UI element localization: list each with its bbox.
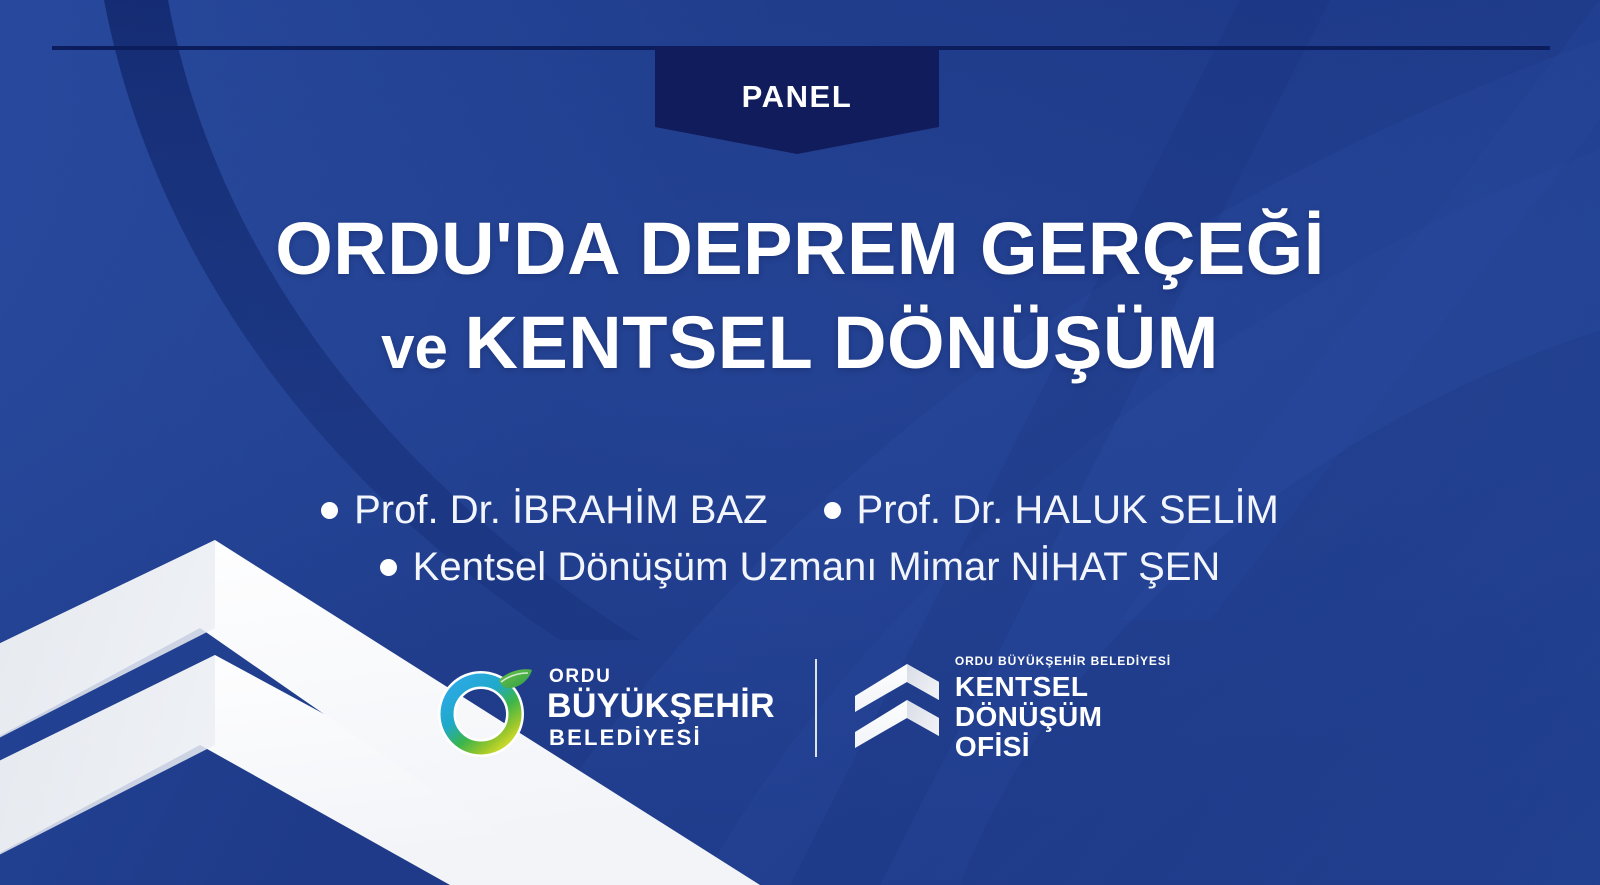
speaker-item: Prof. Dr. İBRAHİM BAZ [321,488,767,533]
title-line-2: ve KENTSEL DÖNÜŞÜM [0,306,1600,380]
logo-bar: ORDU BÜYÜKŞEHİR BELEDİYESİ [0,655,1600,761]
kdo-logo-line-2: DÖNÜŞÜM [955,703,1102,731]
speaker-name: Prof. Dr. İBRAHİM BAZ [354,488,767,533]
title-block: ORDU'DA DEPREM GERÇEĞİ ve KENTSEL DÖNÜŞÜ… [0,212,1600,380]
title-line-1: ORDU'DA DEPREM GERÇEĞİ [0,212,1600,286]
bullet-icon [321,502,338,519]
kdo-logo-line-3: OFİSİ [955,733,1030,761]
double-chevron-icon [851,658,943,758]
speaker-row-2: Kentsel Dönüşüm Uzmanı Mimar NİHAT ŞEN [0,545,1600,590]
poster-canvas: PANEL ORDU'DA DEPREM GERÇEĞİ ve KENTSEL … [0,0,1600,885]
ordu-logo-line-2: BÜYÜKŞEHİR [547,689,775,723]
speaker-name: Kentsel Dönüşüm Uzmanı Mimar NİHAT ŞEN [413,545,1221,590]
speaker-item: Prof. Dr. HALUK SELİM [824,488,1279,533]
speaker-list: Prof. Dr. İBRAHİM BAZ Prof. Dr. HALUK SE… [0,488,1600,590]
title-line-2-main: KENTSEL DÖNÜŞÜM [465,301,1219,384]
bullet-icon [380,559,397,576]
speaker-item: Kentsel Dönüşüm Uzmanı Mimar NİHAT ŞEN [380,545,1221,590]
kdo-logo-wordmark: ORDU BÜYÜKŞEHİR BELEDİYESİ KENTSEL DÖNÜŞ… [955,655,1171,761]
logo-kentsel-donusum-ofisi: ORDU BÜYÜKŞEHİR BELEDİYESİ KENTSEL DÖNÜŞ… [817,655,1171,761]
ordu-logo-wordmark: ORDU BÜYÜKŞEHİR BELEDİYESİ [547,667,775,749]
ordu-logo-line-3: BELEDİYESİ [549,727,702,749]
ordu-logo-line-1: ORDU [549,667,611,686]
logo-ordu-buyuksehir-belediyesi: ORDU BÜYÜKŞEHİR BELEDİYESİ [429,656,815,760]
title-line-2-prefix: ve [381,314,464,381]
panel-ribbon-label: PANEL [742,79,853,115]
kdo-logo-eyebrow: ORDU BÜYÜKŞEHİR BELEDİYESİ [955,655,1171,667]
speaker-row-1: Prof. Dr. İBRAHİM BAZ Prof. Dr. HALUK SE… [0,488,1600,533]
bullet-icon [824,502,841,519]
speaker-name: Prof. Dr. HALUK SELİM [857,488,1279,533]
ordu-ring-leaf-icon [429,656,537,760]
kdo-logo-line-1: KENTSEL [955,673,1088,701]
